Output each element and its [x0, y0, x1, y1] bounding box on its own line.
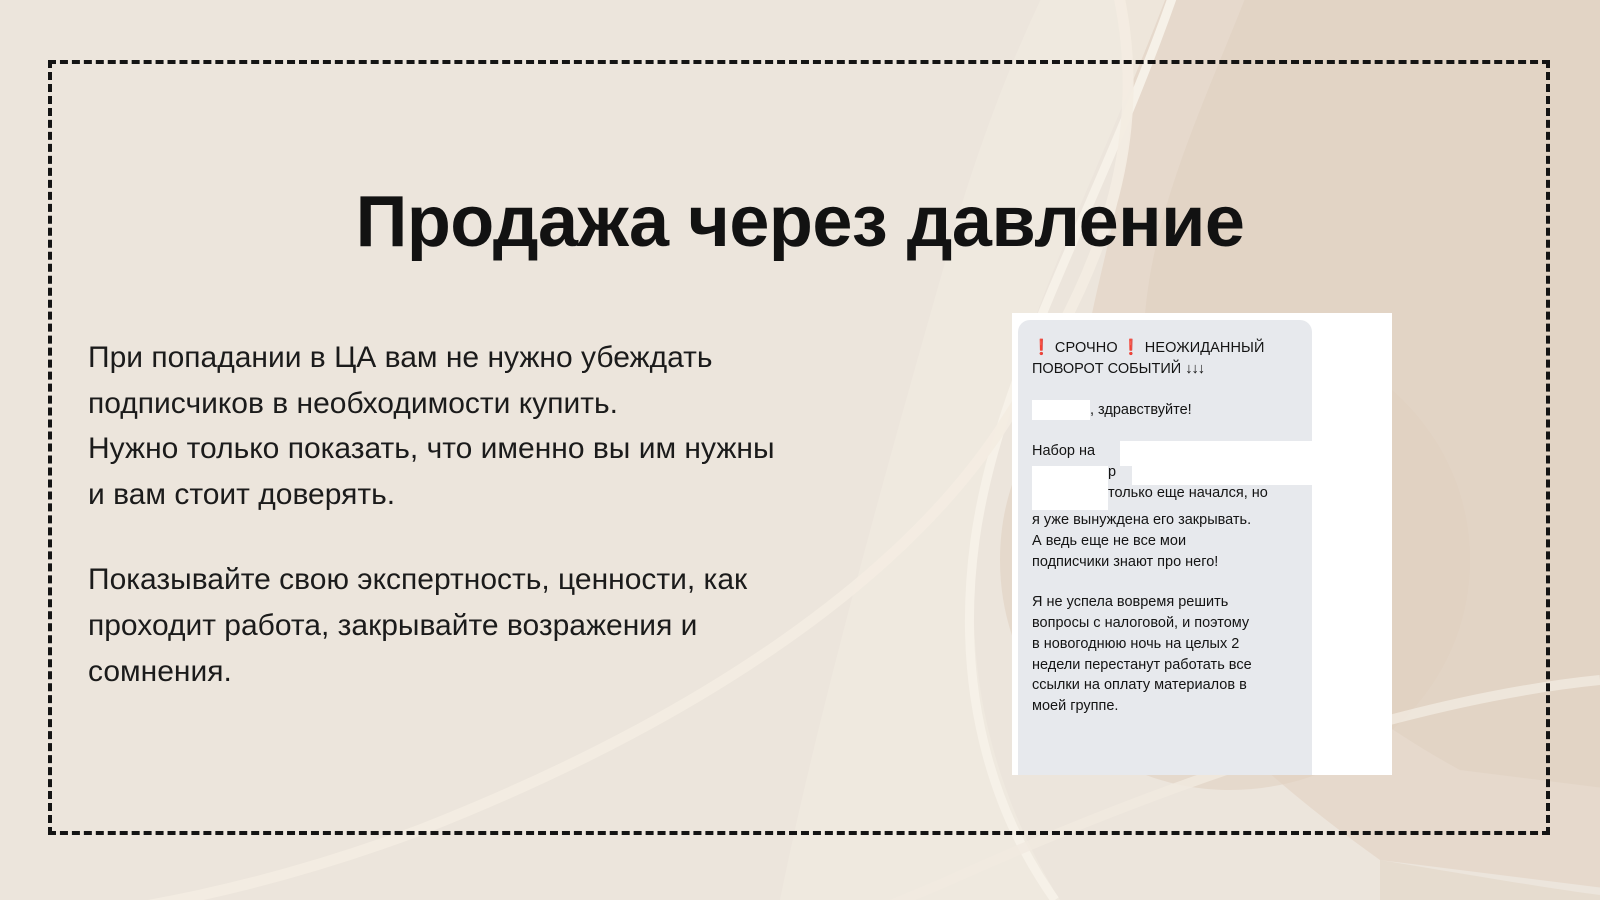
- redaction-box-name: [1032, 400, 1090, 420]
- redaction-box-course-a: [1120, 441, 1312, 466]
- message-line-4: А ведь еще не все мои: [1032, 531, 1312, 552]
- course-line-tail: только еще начался, но: [1108, 485, 1268, 501]
- slide-canvas: Продажа через давление При попадании в Ц…: [0, 0, 1600, 900]
- paragraph-1-line-1: При попадании в ЦА вам не нужно убеждать: [88, 341, 713, 374]
- paragraph-2-line-3: сомнения.: [88, 655, 232, 688]
- redaction-box-course-c: [1132, 466, 1312, 485]
- spacer-3: [1032, 572, 1312, 592]
- chat-screenshot-card: ❗ СРОЧНО ❗ НЕОЖИДАННЫЙ ПОВОРОТ СОБЫТИЙ ↓…: [1012, 313, 1392, 775]
- paragraph-1-line-2: подписчиков в необходимости купить.: [88, 387, 618, 420]
- spacer-2: [1032, 421, 1312, 441]
- message-line-7: вопросы с налоговой, и поэтому: [1032, 613, 1312, 634]
- chat-message-bubble: ❗ СРОЧНО ❗ НЕОЖИДАННЫЙ ПОВОРОТ СОБЫТИЙ ↓…: [1018, 320, 1312, 775]
- course-line-fragment: р: [1108, 464, 1116, 480]
- message-line-6: Я не успела вовремя решить: [1032, 592, 1312, 613]
- spacer-1: [1032, 379, 1312, 400]
- exclamation-icon-2: ❗: [1122, 339, 1141, 356]
- down-arrows-icon: ↓↓↓: [1185, 361, 1204, 377]
- course-enrollment-block: Набор на р только еще начался, но: [1032, 441, 1312, 510]
- message-line-8: в новогоднюю ночь на целых 2: [1032, 634, 1312, 655]
- headline-line-2-text: ПОВОРОТ СОБЫТИЙ: [1032, 361, 1181, 377]
- unexpected-word: НЕОЖИДАННЫЙ: [1145, 340, 1265, 356]
- page-title: Продажа через давление: [0, 185, 1600, 261]
- chat-message-body: ❗ СРОЧНО ❗ НЕОЖИДАННЫЙ ПОВОРОТ СОБЫТИЙ ↓…: [1018, 320, 1312, 717]
- greeting-text: , здравствуйте!: [1090, 402, 1192, 418]
- urgent-headline: ❗ СРОЧНО ❗ НЕОЖИДАННЫЙ: [1032, 337, 1312, 359]
- paragraph-1: При попадании в ЦА вам не нужно убеждать…: [88, 335, 918, 517]
- message-line-10: ссылки на оплату материалов в: [1032, 675, 1312, 696]
- urgent-headline-line-2: ПОВОРОТ СОБЫТИЙ ↓↓↓: [1032, 359, 1312, 380]
- message-line-3: я уже вынуждена его закрывать.: [1032, 510, 1312, 531]
- paragraph-2-line-1: Показывайте свою экспертность, ценности,…: [88, 563, 747, 596]
- body-copy: При попадании в ЦА вам не нужно убеждать…: [88, 335, 918, 694]
- exclamation-icon-1: ❗: [1032, 339, 1051, 356]
- message-line-5: подписчики знают про него!: [1032, 552, 1312, 573]
- paragraph-1-line-3: Нужно только показать, что именно вы им …: [88, 432, 775, 465]
- redaction-box-course-b: [1032, 466, 1108, 510]
- message-line-11: моей группе.: [1032, 696, 1312, 717]
- paragraph-1-line-4: и вам стоит доверять.: [88, 478, 395, 511]
- paragraph-2: Показывайте свою экспертность, ценности,…: [88, 557, 918, 694]
- paragraph-2-line-2: проходит работа, закрывайте возражения и: [88, 609, 697, 642]
- urgent-word: СРОЧНО: [1055, 340, 1118, 356]
- greeting-line: , здравствуйте!: [1032, 400, 1312, 421]
- course-line-prefix: Набор на: [1032, 443, 1095, 459]
- message-line-9: недели перестанут работать все: [1032, 655, 1312, 676]
